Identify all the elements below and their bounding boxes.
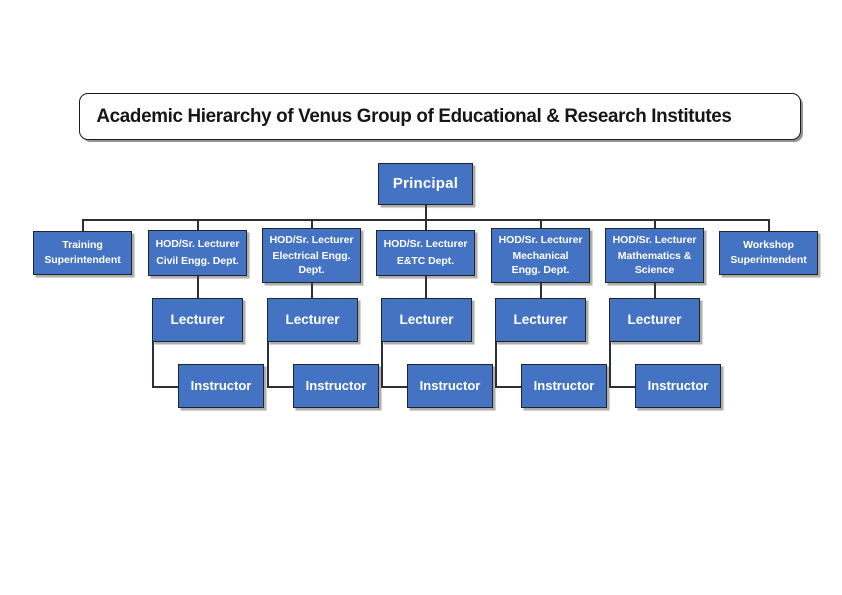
- connector-lecturer-electrical-to-instructor-vertical: [267, 342, 269, 387]
- node-lecturer-maths[interactable]: Lecturer: [609, 298, 700, 342]
- node-workshop-superintendent-label-1: Workshop: [743, 239, 794, 253]
- node-hod-civil-label-1: HOD/Sr. Lecturer: [156, 238, 240, 252]
- node-hod-mechanical-label-3: Engg. Dept.: [512, 264, 570, 278]
- node-instructor-etc[interactable]: Instructor: [407, 364, 493, 408]
- node-lecturer-maths-label: Lecturer: [627, 311, 681, 329]
- node-principal[interactable]: Principal: [378, 163, 473, 205]
- node-hod-etc-label-2: E&TC Dept.: [397, 255, 454, 269]
- node-instructor-etc-label: Instructor: [420, 378, 481, 395]
- node-training-superintendent-label-1: Training: [62, 239, 102, 253]
- node-hod-maths-label-3: Science: [635, 264, 674, 278]
- node-hod-mechanical-label-1: HOD/Sr. Lecturer: [499, 234, 583, 248]
- node-instructor-maths-label: Instructor: [648, 378, 709, 395]
- connector-lecturer-mechanical-to-instructor-horizontal: [495, 386, 522, 388]
- node-workshop-superintendent-label-2: Superintendent: [730, 254, 806, 268]
- node-hod-electrical-label-1: HOD/Sr. Lecturer: [270, 234, 354, 248]
- node-instructor-electrical[interactable]: Instructor: [293, 364, 379, 408]
- connector-lecturer-civil-to-instructor-vertical: [152, 342, 154, 387]
- node-hod-maths-label-1: HOD/Sr. Lecturer: [613, 234, 697, 248]
- node-hod-maths-label-2: Mathematics &: [618, 250, 691, 264]
- connector-lecturer-maths-to-instructor-vertical: [609, 342, 611, 387]
- node-instructor-mechanical[interactable]: Instructor: [521, 364, 607, 408]
- node-lecturer-etc[interactable]: Lecturer: [381, 298, 472, 342]
- node-hod-mechanical-label-2: Mechanical: [512, 250, 568, 264]
- node-hod-mechanical[interactable]: HOD/Sr. Lecturer Mechanical Engg. Dept.: [491, 228, 590, 283]
- connector-lecturer-etc-to-instructor-horizontal: [381, 386, 408, 388]
- node-lecturer-mechanical[interactable]: Lecturer: [495, 298, 586, 342]
- page-title: Academic Hierarchy of Venus Group of Edu…: [80, 105, 732, 128]
- connector-hod-civil-to-lecturer: [197, 276, 199, 298]
- node-hod-maths[interactable]: HOD/Sr. Lecturer Mathematics & Science: [605, 228, 704, 283]
- connector-lecturer-etc-to-instructor-vertical: [381, 342, 383, 387]
- node-lecturer-civil[interactable]: Lecturer: [152, 298, 243, 342]
- node-hod-etc[interactable]: HOD/Sr. Lecturer E&TC Dept.: [376, 230, 475, 276]
- node-lecturer-electrical[interactable]: Lecturer: [267, 298, 358, 342]
- node-hod-electrical[interactable]: HOD/Sr. Lecturer Electrical Engg. Dept.: [262, 228, 361, 283]
- connector-hod-maths-to-lecturer: [654, 283, 656, 298]
- node-instructor-electrical-label: Instructor: [306, 378, 367, 395]
- org-chart-canvas: Academic Hierarchy of Venus Group of Edu…: [0, 0, 842, 595]
- node-lecturer-electrical-label: Lecturer: [285, 311, 339, 329]
- node-instructor-civil[interactable]: Instructor: [178, 364, 264, 408]
- node-lecturer-etc-label: Lecturer: [399, 311, 453, 329]
- node-hod-civil-label-2: Civil Engg. Dept.: [156, 255, 239, 269]
- chart-title-banner: Academic Hierarchy of Venus Group of Edu…: [79, 93, 801, 140]
- node-workshop-superintendent[interactable]: Workshop Superintendent: [719, 231, 818, 275]
- node-lecturer-mechanical-label: Lecturer: [513, 311, 567, 329]
- node-hod-electrical-label-3: Dept.: [298, 264, 324, 278]
- node-instructor-mechanical-label: Instructor: [534, 378, 595, 395]
- node-instructor-civil-label: Instructor: [191, 378, 252, 395]
- connector-lecturer-maths-to-instructor-horizontal: [609, 386, 636, 388]
- node-principal-label: Principal: [393, 174, 458, 194]
- node-hod-civil[interactable]: HOD/Sr. Lecturer Civil Engg. Dept.: [148, 230, 247, 276]
- node-lecturer-civil-label: Lecturer: [170, 311, 224, 329]
- connector-hod-electrical-to-lecturer: [311, 283, 313, 298]
- connector-hod-etc-to-lecturer: [425, 276, 427, 298]
- connector-hod-mechanical-to-lecturer: [540, 283, 542, 298]
- node-hod-electrical-label-2: Electrical Engg.: [273, 250, 351, 264]
- node-hod-etc-label-1: HOD/Sr. Lecturer: [384, 238, 468, 252]
- connector-lecturer-electrical-to-instructor-horizontal: [267, 386, 294, 388]
- node-instructor-maths[interactable]: Instructor: [635, 364, 721, 408]
- connector-principal-stem: [425, 204, 427, 220]
- node-training-superintendent[interactable]: Training Superintendent: [33, 231, 132, 275]
- connector-lecturer-civil-to-instructor-horizontal: [152, 386, 179, 388]
- connector-lecturer-mechanical-to-instructor-vertical: [495, 342, 497, 387]
- node-training-superintendent-label-2: Superintendent: [44, 254, 120, 268]
